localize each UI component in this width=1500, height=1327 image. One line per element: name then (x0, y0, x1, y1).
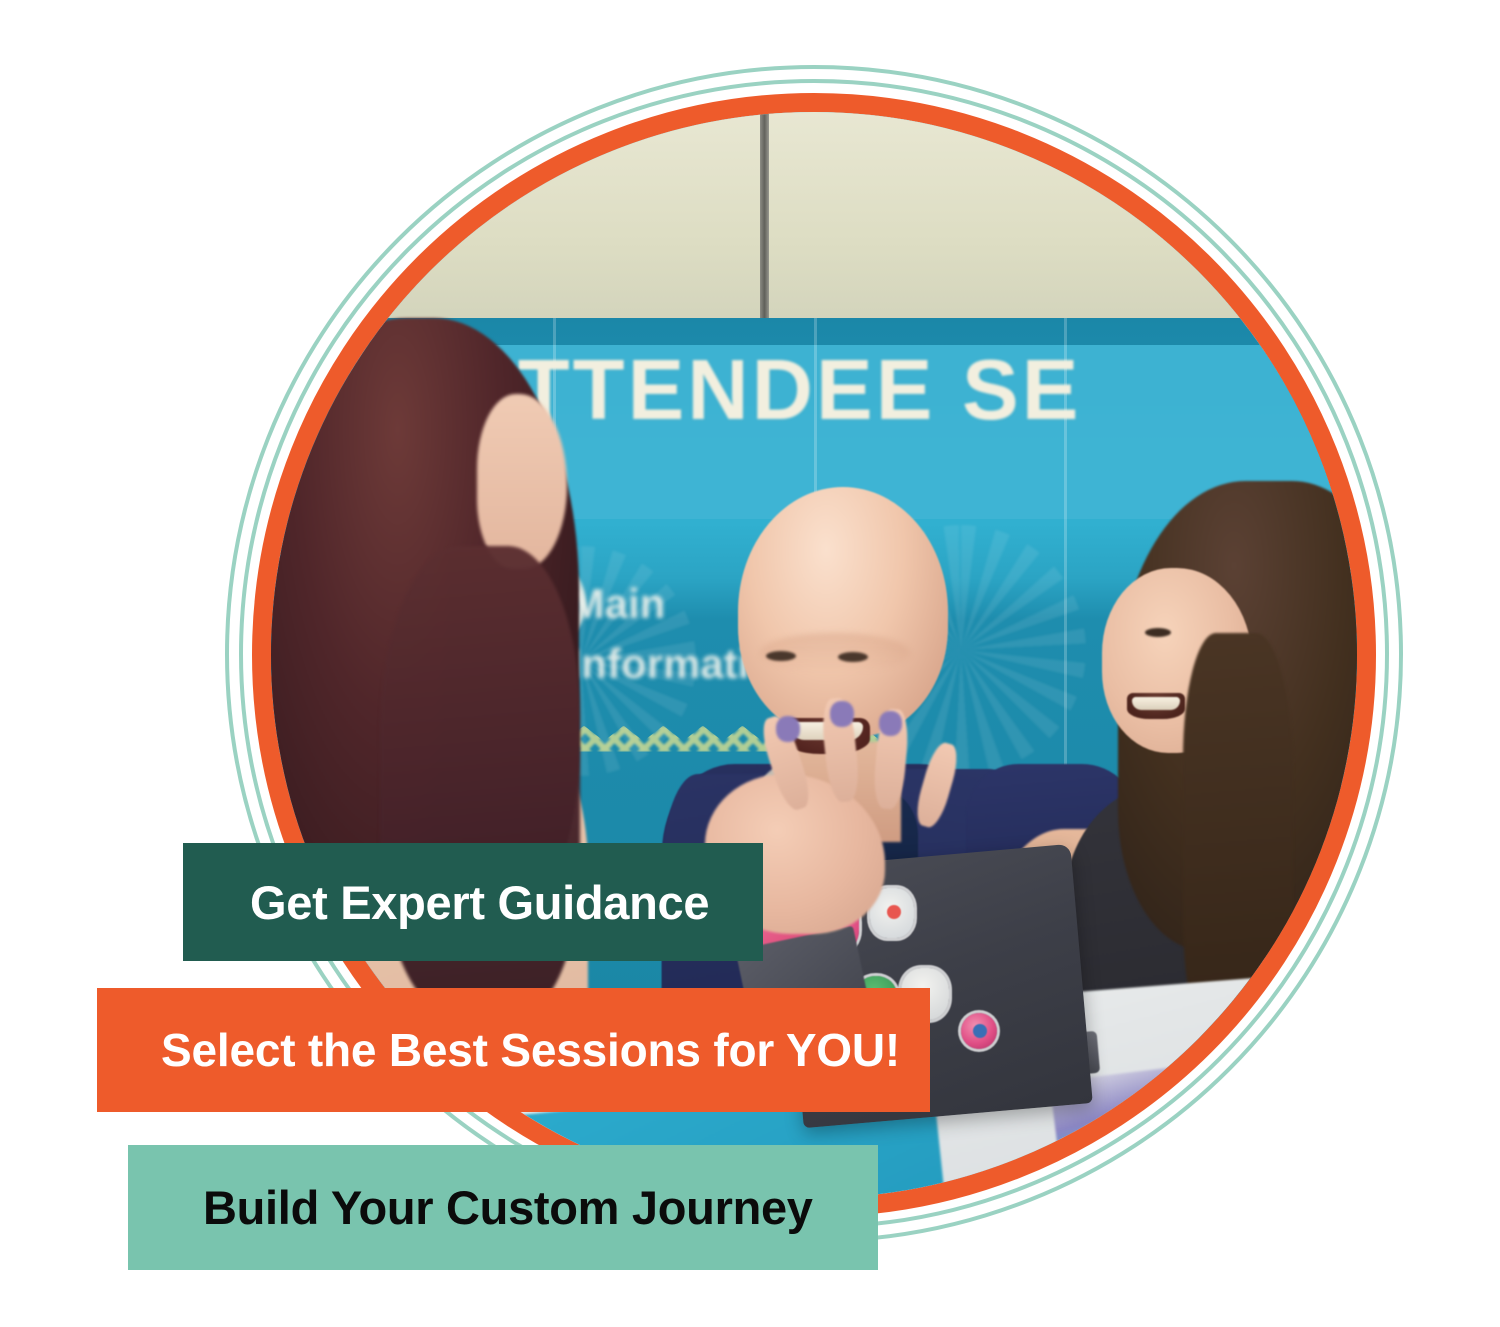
label-build-custom-journey: Build Your Custom Journey (128, 1145, 878, 1270)
ceiling-wall (271, 112, 1357, 329)
label-select-best-sessions: Select the Best Sessions for YOU! (97, 988, 930, 1112)
laptop-sticker-detail (973, 1024, 987, 1038)
attendee-left-fingernail (776, 716, 800, 742)
attendee-left-fingernail (830, 701, 854, 727)
attendee-left-fingernail (879, 711, 902, 736)
label-select-best-sessions-text: Select the Best Sessions for YOU! (161, 1027, 900, 1073)
label-get-expert-guidance-text: Get Expert Guidance (250, 879, 709, 926)
attendee-right-teeth (1132, 697, 1180, 710)
staff-member-head (738, 487, 948, 737)
booth-pole (760, 112, 769, 340)
staff-member-eye-left (766, 651, 796, 661)
laptop-sticker-detail (887, 905, 901, 919)
label-get-expert-guidance: Get Expert Guidance (183, 843, 763, 961)
label-build-custom-journey-text: Build Your Custom Journey (203, 1184, 813, 1231)
attendee-right-eye (1145, 628, 1171, 637)
staff-member-eye-right (838, 652, 868, 662)
